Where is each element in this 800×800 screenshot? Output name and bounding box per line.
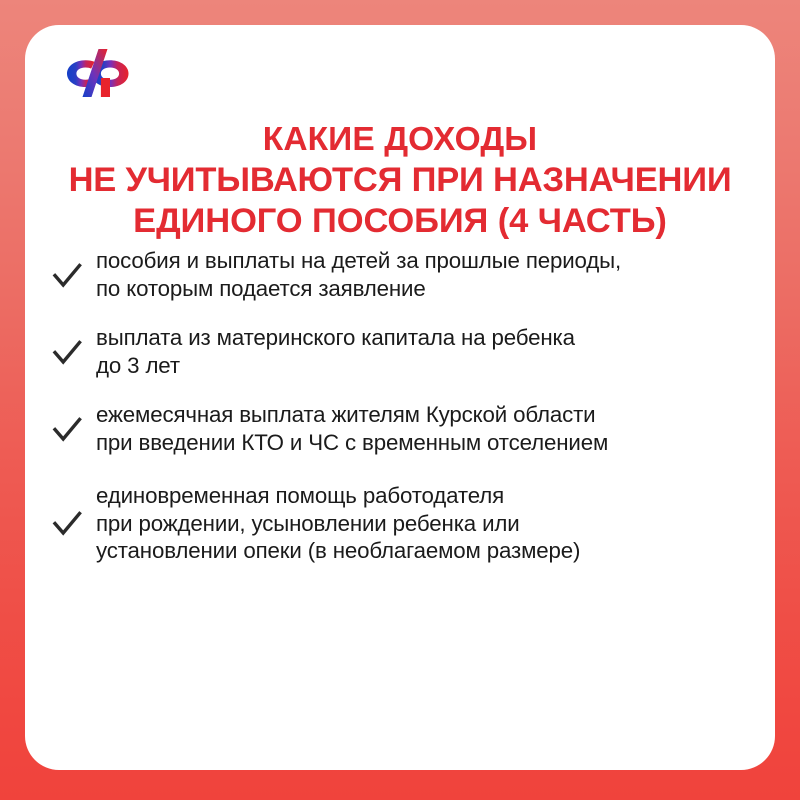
sfr-logo <box>58 47 144 99</box>
list-item: ежемесячная выплата жителям Курской обла… <box>47 401 759 456</box>
check-icon <box>50 413 84 447</box>
list-item-text: единовременная помощь работодателя при р… <box>96 482 759 565</box>
list-item: пособия и выплаты на детей за прошлые пе… <box>47 247 759 302</box>
check-icon <box>50 507 84 541</box>
list-item-text: выплата из материнского капитала на ребе… <box>96 324 759 379</box>
check-icon <box>50 336 84 370</box>
poster-background: КАКИЕ ДОХОДЫ НЕ УЧИТЫВАЮТСЯ ПРИ НАЗНАЧЕН… <box>0 0 800 800</box>
list-item-text: ежемесячная выплата жителям Курской обла… <box>96 401 759 456</box>
title-line-1: КАКИЕ ДОХОДЫ <box>43 119 757 160</box>
title-line-3: ЕДИНОГО ПОСОБИЯ (4 ЧАСТЬ) <box>43 201 757 242</box>
title-line-2: НЕ УЧИТЫВАЮТСЯ ПРИ НАЗНАЧЕНИИ <box>43 160 757 201</box>
content-card: КАКИЕ ДОХОДЫ НЕ УЧИТЫВАЮТСЯ ПРИ НАЗНАЧЕН… <box>25 25 775 770</box>
benefits-list: пособия и выплаты на детей за прошлые пе… <box>47 247 759 565</box>
check-icon <box>50 259 84 293</box>
page-title: КАКИЕ ДОХОДЫ НЕ УЧИТЫВАЮТСЯ ПРИ НАЗНАЧЕН… <box>43 119 757 242</box>
list-item: выплата из материнского капитала на ребе… <box>47 324 759 379</box>
list-item: единовременная помощь работодателя при р… <box>47 482 759 565</box>
list-item-text: пособия и выплаты на детей за прошлые пе… <box>96 247 759 302</box>
